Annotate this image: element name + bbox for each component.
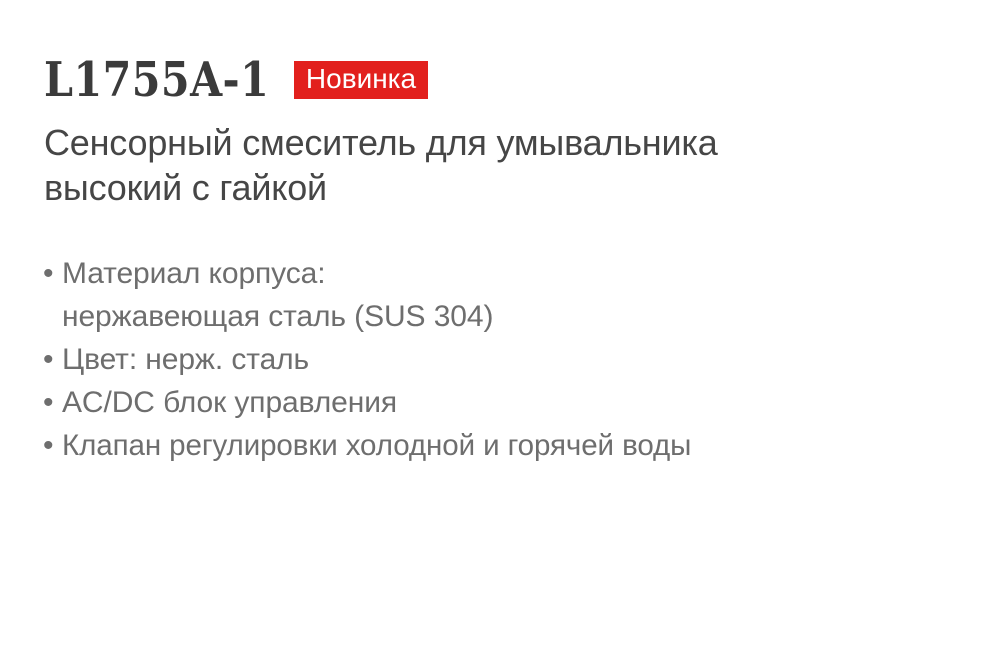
list-item: • Клапан регулировки холодной и горячей … [40, 424, 960, 467]
header-row: L1755A-1 Новинка [44, 52, 428, 108]
status-badge-new: Новинка [294, 61, 428, 99]
product-subtitle-line-1: Сенсорный смеситель для умывальника [44, 120, 944, 165]
bullet-icon: • [43, 252, 57, 295]
product-subtitle: Сенсорный смеситель для умывальника высо… [44, 120, 944, 210]
list-item: • Цвет: нерж. сталь [40, 338, 960, 381]
product-feature-list: • Материал корпуса: нержавеющая сталь (S… [40, 252, 960, 467]
feature-text: Цвет: нерж. сталь [62, 338, 960, 381]
bullet-icon: • [43, 381, 57, 424]
product-subtitle-line-2: высокий с гайкой [44, 165, 944, 210]
bullet-icon: • [43, 424, 57, 467]
list-item: • Материал корпуса: нержавеющая сталь (S… [40, 252, 960, 338]
feature-text: Материал корпуса: [62, 252, 960, 295]
feature-text: AC/DC блок управления [62, 381, 960, 424]
list-item: • AC/DC блок управления [40, 381, 960, 424]
product-info-card: L1755A-1 Новинка Сенсорный смеситель для… [0, 0, 1000, 657]
bullet-icon: • [43, 338, 57, 381]
product-model-code: L1755A-1 [44, 54, 269, 106]
feature-text-continuation: нержавеющая сталь (SUS 304) [62, 295, 960, 338]
feature-text: Клапан регулировки холодной и горячей во… [62, 424, 947, 467]
